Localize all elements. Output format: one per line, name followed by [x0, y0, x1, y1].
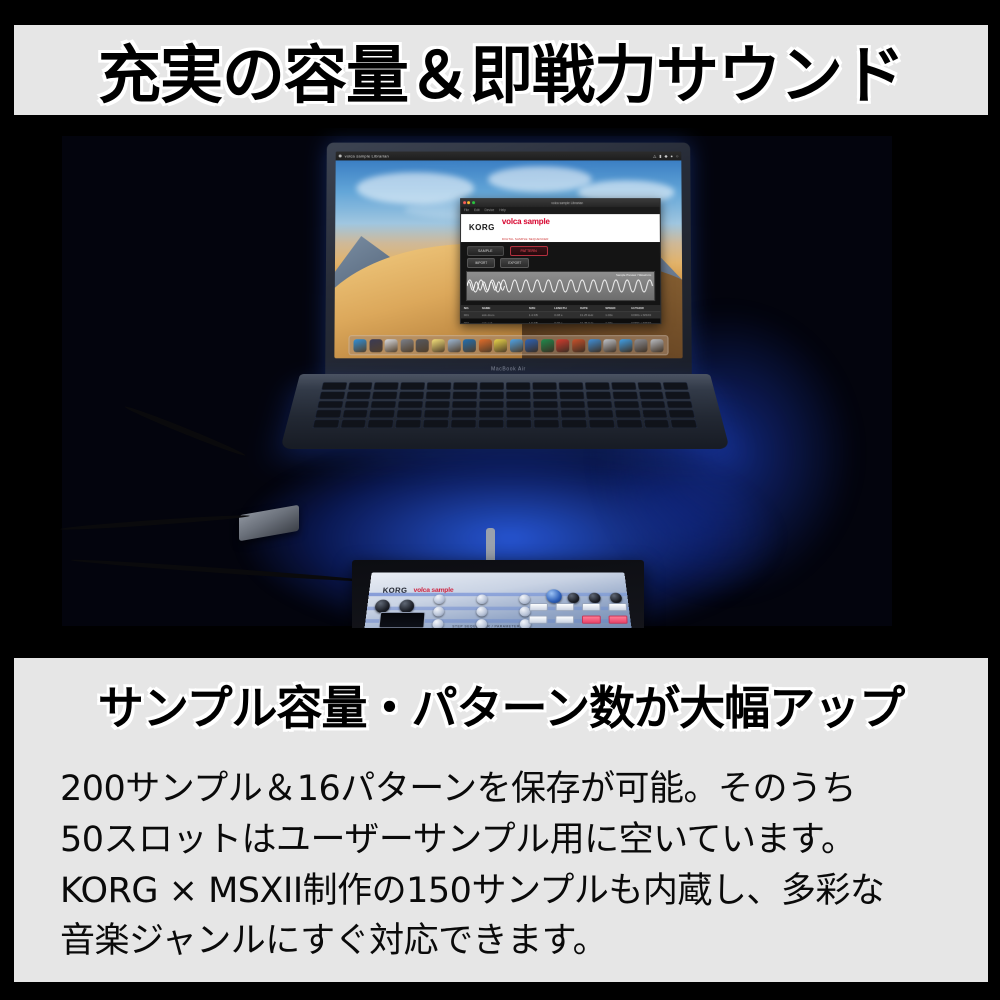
- clear-button[interactable]: [555, 616, 574, 624]
- volume-knob[interactable]: [374, 600, 390, 613]
- battery-icon: ▮: [659, 154, 661, 159]
- cloud-shape: [488, 166, 592, 192]
- part-button[interactable]: [528, 616, 547, 624]
- speed-knob[interactable]: [477, 594, 488, 604]
- product-name: volca sample: [502, 217, 550, 226]
- column-header-name: NAME: [482, 306, 529, 310]
- menubar-app-title: volca sample Librarian: [345, 154, 389, 159]
- pan-knob[interactable]: [433, 607, 444, 617]
- page-root: 充実の容量＆即戦力サウンド volca sample Librarian △ ▮…: [0, 0, 1000, 1000]
- volca-button-panel: [528, 573, 634, 628]
- table-row[interactable]: 002kick sub1.6 KB0.09 s31.25 kHz1.00xKOR…: [461, 319, 661, 323]
- key-row: [314, 410, 695, 418]
- cable-plug: [486, 528, 495, 564]
- export-button[interactable]: EXPORT: [500, 258, 529, 268]
- app-menubar: File Edit Device Help: [461, 207, 660, 214]
- paragraph-line: 200サンプル＆16パターンを保存が可能。そのうち: [60, 764, 942, 815]
- header-banner: 充実の容量＆即戦力サウンド: [14, 25, 988, 115]
- column-header-length: LENGTH: [554, 306, 580, 310]
- app-action-buttons: IMPORT EXPORT: [461, 258, 660, 271]
- tab-pattern[interactable]: PATTERN: [509, 246, 547, 256]
- table-cell: kick drum: [482, 313, 529, 317]
- header-title: 充実の容量＆即戦力サウンド: [98, 25, 904, 116]
- bottom-panel: サンプル容量・パターン数が大幅アップ 200サンプル＆16パターンを保存が可能。…: [14, 658, 988, 982]
- bluetooth-icon: ◆: [664, 154, 667, 159]
- waveform-label: Sample Preview / Waveform: [616, 273, 651, 277]
- bottom-title: サンプル容量・パターン数が大幅アップ: [60, 672, 942, 738]
- level-knob[interactable]: [434, 594, 445, 604]
- tab-sample[interactable]: SAMPLE: [467, 246, 504, 256]
- table-cell: kick sub: [481, 321, 528, 324]
- laptop-chin: [334, 336, 682, 358]
- desktop-wallpaper: volca sample Librarian File Edit Device …: [334, 160, 682, 358]
- product-photo: volca sample Librarian △ ▮ ◆ ● ○: [0, 128, 1000, 628]
- column-header-author: AUTHOR: [631, 306, 661, 310]
- laptop-model-label: MacBook Air: [491, 366, 526, 372]
- table-cell: 1.00x: [605, 321, 631, 324]
- length-knob[interactable]: [476, 619, 487, 628]
- macos-menubar: volca sample Librarian △ ▮ ◆ ● ○: [336, 152, 682, 161]
- cloud-shape: [356, 172, 474, 203]
- key-row: [321, 382, 689, 390]
- app-tabs: SAMPLE PATTERN: [461, 242, 660, 258]
- volca-korg-logo: KORG: [382, 587, 407, 595]
- memory-button[interactable]: [556, 603, 575, 611]
- import-button[interactable]: IMPORT: [467, 258, 495, 268]
- func-button[interactable]: [529, 603, 548, 611]
- volca-product-name: volca sample: [413, 588, 453, 594]
- column-header-size: SIZE: [529, 306, 555, 310]
- table-cell: 1.00x: [605, 313, 631, 317]
- table-cell: 31.25 kHz: [580, 321, 606, 324]
- key-row: [312, 420, 698, 428]
- table-cell: 0.08 s: [554, 313, 580, 317]
- close-icon[interactable]: [463, 201, 466, 204]
- sample-table[interactable]: NO. NAME SIZE LENGTH RATE SPEED AUTHOR 0…: [461, 305, 661, 324]
- volca-product-logo: volca sample DIGITAL SAMPLE SEQUENCER: [502, 212, 550, 244]
- table-cell: 001: [464, 313, 482, 317]
- table-cell: 1.6 KB: [529, 321, 555, 324]
- sample-knob[interactable]: [399, 600, 415, 613]
- minimize-icon[interactable]: [467, 201, 470, 204]
- paragraph-line: KORG × MSXII制作の150サンプルも内蔵し、多彩な: [60, 866, 942, 917]
- start-knob[interactable]: [476, 607, 487, 617]
- apple-logo-icon: [339, 155, 342, 158]
- table-row[interactable]: 001kick drum1.4 KB0.08 s31.25 kHz1.00xKO…: [461, 312, 661, 319]
- volca-display: [378, 612, 425, 628]
- wifi-icon: △: [653, 154, 656, 159]
- record-button[interactable]: [582, 616, 601, 624]
- clock: ●: [670, 154, 672, 159]
- window-titlebar: volca sample Librarian: [461, 199, 660, 207]
- column-header-speed: SPEED: [605, 306, 631, 310]
- menu-item-edit[interactable]: Edit: [474, 208, 479, 212]
- table-cell: 31.25 kHz: [580, 313, 606, 317]
- korg-logo: KORG: [469, 223, 495, 232]
- keyboard: [312, 382, 698, 428]
- key-row: [317, 401, 694, 409]
- table-cell: KORG x MSXII: [631, 313, 661, 317]
- maximize-icon[interactable]: [472, 201, 475, 204]
- table-cell: KORG x MSXII: [631, 321, 661, 324]
- laptop-screen: volca sample Librarian △ ▮ ◆ ● ○: [334, 152, 682, 359]
- table-cell: 1.4 KB: [529, 313, 555, 317]
- step-button[interactable]: [609, 616, 628, 624]
- paragraph-line: 音楽ジャンルにすぐ対応できます。: [60, 916, 942, 967]
- menu-item-file[interactable]: File: [464, 208, 469, 212]
- waveform-display[interactable]: Sample Preview / Waveform ▶: [466, 271, 656, 301]
- korg-volca-sample: KORG volca sample STEP SEQUENCER / PARAM…: [352, 560, 644, 628]
- loop-button[interactable]: [608, 603, 627, 611]
- play-button[interactable]: [582, 603, 601, 611]
- table-header-row: NO. NAME SIZE LENGTH RATE SPEED AUTHOR: [461, 305, 661, 312]
- table-cell: 0.09 s: [554, 321, 580, 324]
- laptop-lid: volca sample Librarian △ ▮ ◆ ● ○: [325, 143, 692, 381]
- macbook-air: volca sample Librarian △ ▮ ◆ ● ○: [300, 142, 710, 462]
- key-row: [319, 391, 691, 399]
- column-header-rate: RATE: [580, 306, 606, 310]
- bottom-paragraph: 200サンプル＆16パターンを保存が可能。そのうち 50スロットはユーザーサンプ…: [60, 764, 942, 967]
- laptop-base: [280, 374, 730, 449]
- window-title: volca sample Librarian: [476, 201, 657, 205]
- table-body: 001kick drum1.4 KB0.08 s31.25 kHz1.00xKO…: [461, 312, 661, 323]
- pitch-knob[interactable]: [432, 619, 444, 628]
- column-header-no: NO.: [464, 306, 482, 310]
- search-icon: ○: [676, 154, 678, 159]
- menubar-status-items: △ ▮ ◆ ● ○: [653, 154, 678, 159]
- paragraph-line: 50スロットはユーザーサンプル用に空いています。: [60, 815, 942, 866]
- product-tagline: DIGITAL SAMPLE SEQUENCER: [502, 237, 549, 241]
- volca-librarian-window[interactable]: volca sample Librarian File Edit Device …: [460, 198, 662, 325]
- menu-item-device[interactable]: Device: [485, 208, 495, 212]
- app-brand-header: KORG volca sample DIGITAL SAMPLE SEQUENC…: [461, 214, 660, 242]
- table-cell: 002: [464, 321, 482, 324]
